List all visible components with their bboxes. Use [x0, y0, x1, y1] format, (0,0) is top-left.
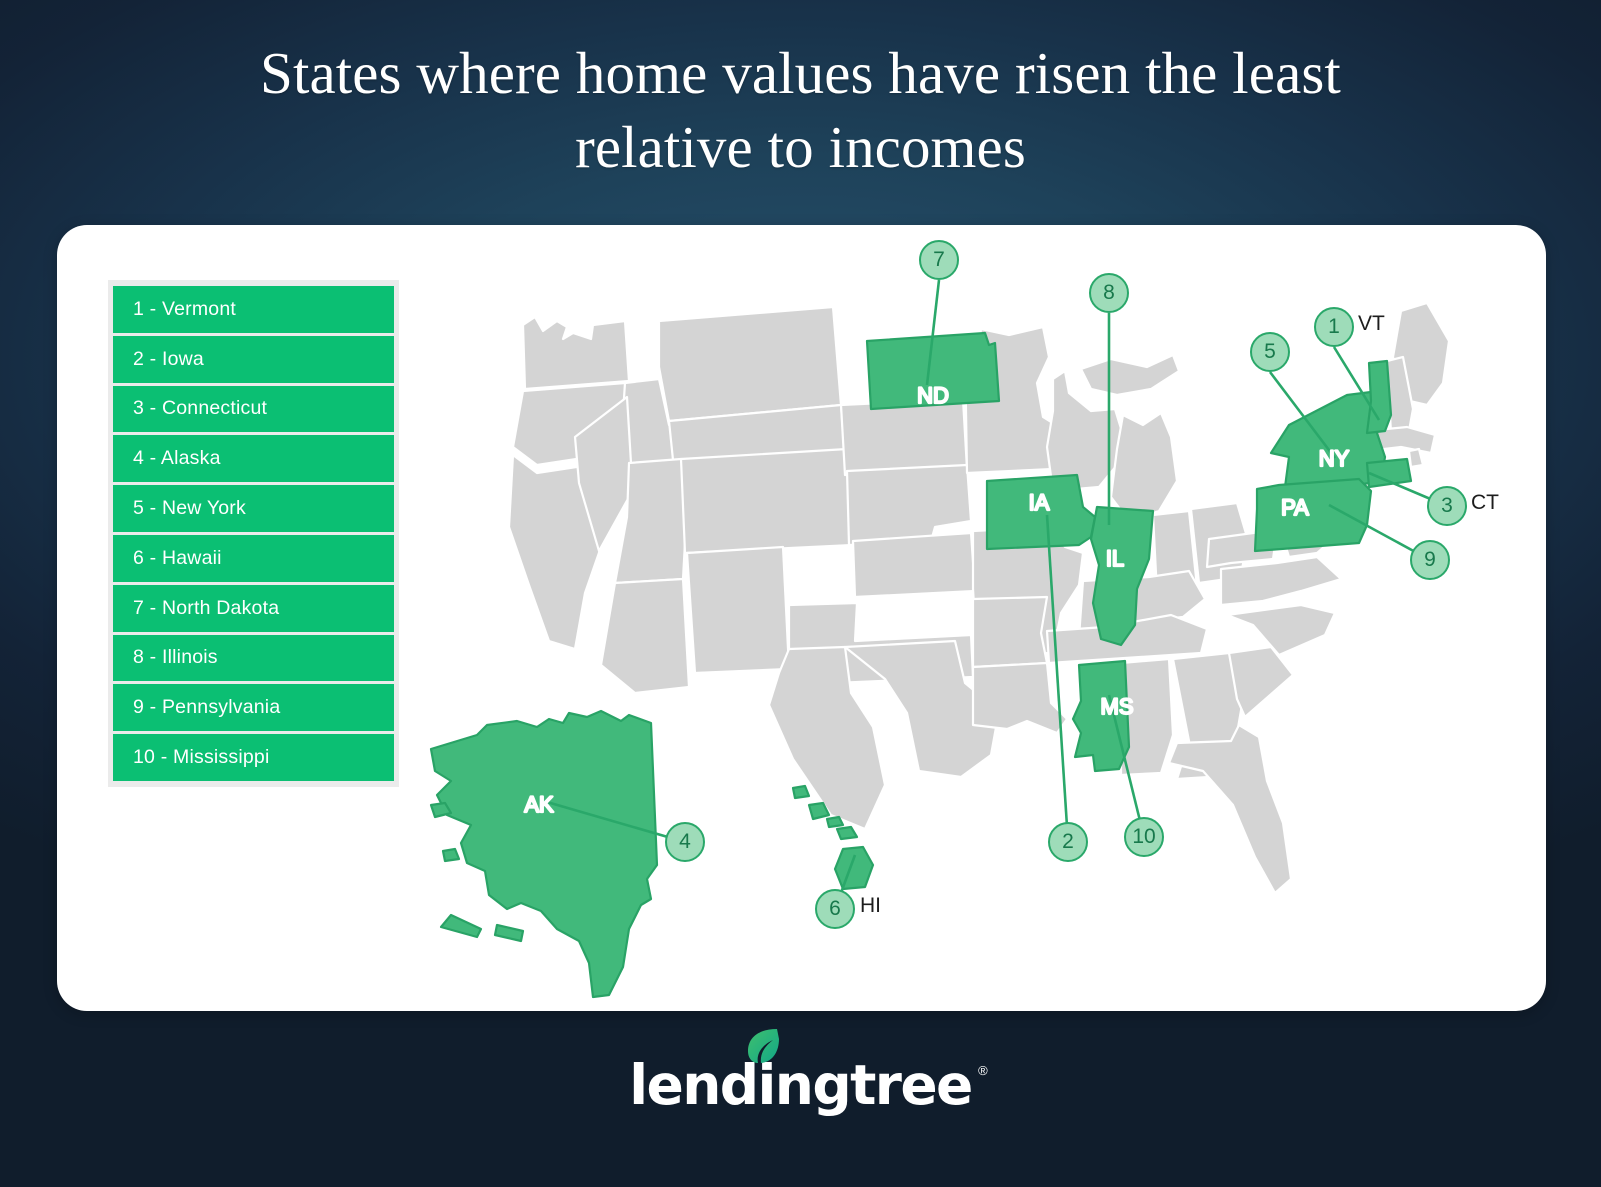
- map-marker-8[interactable]: 8: [1089, 273, 1129, 313]
- map-label-ct-external: CT: [1471, 491, 1499, 515]
- state-hi-kauai: [793, 786, 809, 798]
- map-label-ms: MS: [1101, 694, 1134, 719]
- map-marker-3[interactable]: 3: [1427, 486, 1467, 526]
- state-hi-molokai: [827, 817, 843, 827]
- content-card: 1 - Vermont 2 - Iowa 3 - Connecticut 4 -…: [57, 225, 1546, 1011]
- map-marker-6[interactable]: 6: [815, 889, 855, 929]
- map-label-ny: NY: [1319, 446, 1350, 471]
- marker-number: 4: [679, 830, 691, 854]
- map-label-vt-external: VT: [1358, 312, 1385, 336]
- map-marker-10[interactable]: 10: [1124, 817, 1164, 857]
- leaf-icon: [746, 1027, 780, 1065]
- map-label-ia: IA: [1029, 490, 1050, 515]
- map-label-ak: AK: [524, 792, 554, 817]
- marker-number: 5: [1264, 340, 1276, 364]
- state-ak-isle-2: [443, 849, 459, 861]
- state-ak-aleutians: [441, 915, 481, 937]
- state-ak-isle-3: [495, 925, 523, 941]
- state-ak: [431, 711, 657, 997]
- state-hi-bigisland: [835, 847, 873, 889]
- marker-number: 3: [1441, 494, 1453, 518]
- map-marker-1[interactable]: 1: [1314, 307, 1354, 347]
- marker-number: 2: [1062, 830, 1074, 854]
- map-label-nd: ND: [917, 383, 949, 408]
- title-line-2: relative to incomes: [0, 110, 1601, 184]
- map-marker-7[interactable]: 7: [919, 240, 959, 280]
- map-label-pa: PA: [1281, 495, 1309, 520]
- state-vt: [1367, 361, 1391, 433]
- lendingtree-logo: lendingtree ®: [0, 1050, 1601, 1120]
- logo-wordmark: lendingtree: [629, 1053, 971, 1117]
- map-marker-2[interactable]: 2: [1048, 822, 1088, 862]
- title-line-1: States where home values have risen the …: [260, 40, 1341, 106]
- marker-number: 9: [1424, 548, 1436, 572]
- marker-number: 6: [829, 897, 841, 921]
- map-marker-9[interactable]: 9: [1410, 540, 1450, 580]
- us-choropleth-map: ND IA IL NY PA MS AK 7 8 1 5 3 9 2 10 4 …: [57, 225, 1546, 1011]
- marker-number: 7: [933, 248, 945, 272]
- infographic-canvas: States where home values have risen the …: [0, 0, 1601, 1187]
- page-title: States where home values have risen the …: [0, 36, 1601, 185]
- registered-mark: ®: [978, 1063, 988, 1078]
- map-marker-5[interactable]: 5: [1250, 332, 1290, 372]
- state-hi-maui: [837, 827, 857, 839]
- map-label-hi-external: HI: [860, 894, 881, 918]
- map-marker-4[interactable]: 4: [665, 822, 705, 862]
- marker-number: 8: [1103, 281, 1115, 305]
- map-label-il: IL: [1106, 546, 1124, 571]
- marker-number: 10: [1132, 825, 1155, 849]
- state-pa: [1255, 479, 1371, 551]
- marker-number: 1: [1328, 315, 1340, 339]
